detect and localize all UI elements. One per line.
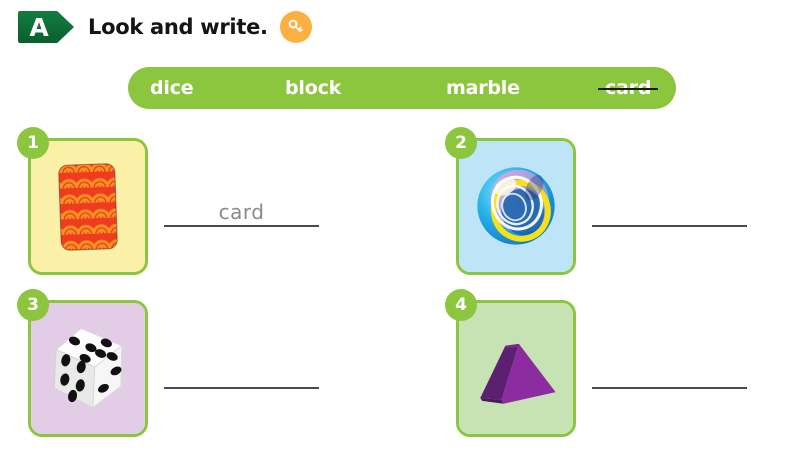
dice-icon [31, 303, 145, 434]
answer-rule-2 [592, 225, 747, 227]
picture-card-3: 3 [28, 300, 148, 437]
page-title: Look and write. [88, 15, 268, 39]
picture-background-2 [459, 141, 573, 272]
key-icon [280, 11, 312, 43]
picture-background-4 [459, 303, 573, 434]
item-number-badge-1: 1 [17, 127, 49, 159]
picture-card-2: 2 [456, 138, 576, 275]
badge-letter-label: A [29, 13, 48, 42]
item-number-badge-2: 2 [445, 127, 477, 159]
picture-background-3 [31, 303, 145, 434]
exercise-header: A Look and write. [18, 6, 312, 48]
picture-card-1: 1 [28, 138, 148, 275]
playing-card-icon [31, 141, 145, 272]
exercise-letter-badge: A [18, 8, 74, 46]
exercise-item-2: 2 [456, 138, 747, 275]
answer-rule-3 [164, 387, 319, 389]
item-number-badge-4: 4 [445, 289, 477, 321]
picture-card-4: 4 [456, 300, 576, 437]
word-bank-item-marble[interactable]: marble [446, 77, 520, 99]
answer-line-4[interactable] [592, 349, 747, 389]
exercise-item-1: 1 [28, 138, 319, 275]
word-bank: dice block marble card [128, 67, 676, 109]
triangular-prism-block-icon [459, 303, 573, 434]
word-bank-item-block[interactable]: block [285, 77, 341, 99]
picture-background-1 [31, 141, 145, 272]
word-bank-item-dice[interactable]: dice [150, 77, 193, 99]
exercise-item-3: 3 [28, 300, 319, 437]
answer-text-1: card [219, 200, 265, 224]
answer-rule-4 [592, 387, 747, 389]
item-number-badge-3: 3 [17, 289, 49, 321]
answer-rule-1 [164, 225, 319, 227]
word-bank-item-card[interactable]: card [605, 77, 651, 99]
answer-line-1[interactable]: card [164, 187, 319, 227]
exercise-item-4: 4 [456, 300, 747, 437]
answer-line-3[interactable] [164, 349, 319, 389]
answer-line-2[interactable] [592, 187, 747, 227]
marble-icon [459, 141, 573, 272]
